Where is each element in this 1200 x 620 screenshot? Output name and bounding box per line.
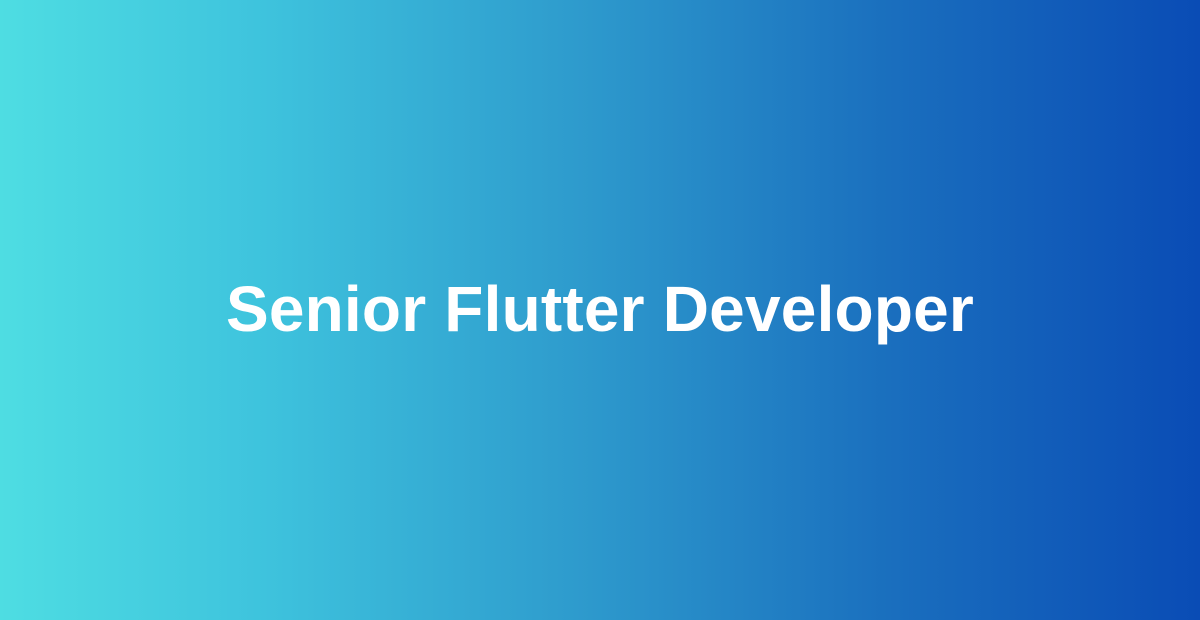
page-title: Senior Flutter Developer xyxy=(186,274,1014,346)
job-title-banner: Senior Flutter Developer xyxy=(0,0,1200,620)
